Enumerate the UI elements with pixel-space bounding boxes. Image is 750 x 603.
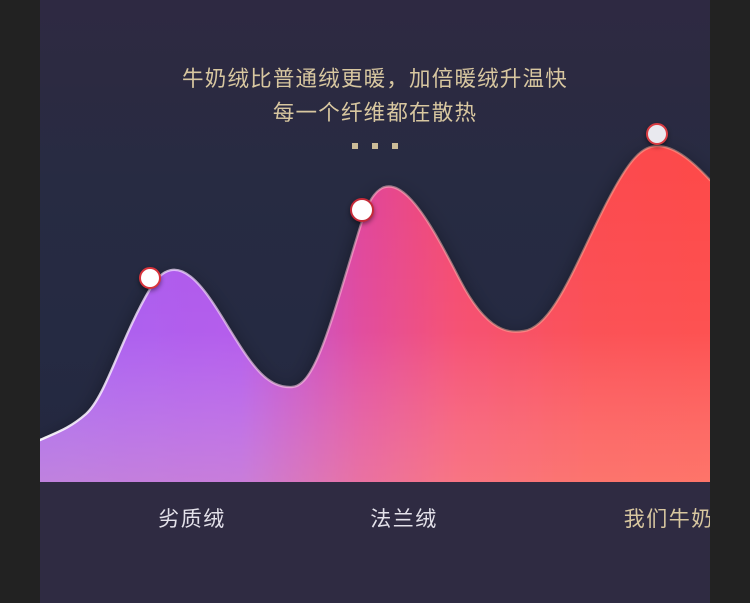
axis-label-strip: 劣质绒 法兰绒 我们牛奶绒 — [40, 482, 710, 603]
marker-milk-fleece[interactable] — [646, 123, 668, 145]
axis-label-poor-fleece: 劣质绒 — [158, 503, 226, 533]
poster-canvas: 牛奶绒比普通绒更暖，加倍暖绒升温快 每一个纤维都在散热 — [0, 0, 750, 603]
chart-panel: 牛奶绒比普通绒更暖，加倍暖绒升温快 每一个纤维都在散热 — [40, 0, 710, 603]
marker-poor-fleece[interactable] — [139, 267, 161, 289]
axis-label-milk-fleece: 我们牛奶绒 — [624, 503, 710, 533]
marker-flannel[interactable] — [350, 198, 374, 222]
axis-label-flannel: 法兰绒 — [370, 503, 438, 533]
